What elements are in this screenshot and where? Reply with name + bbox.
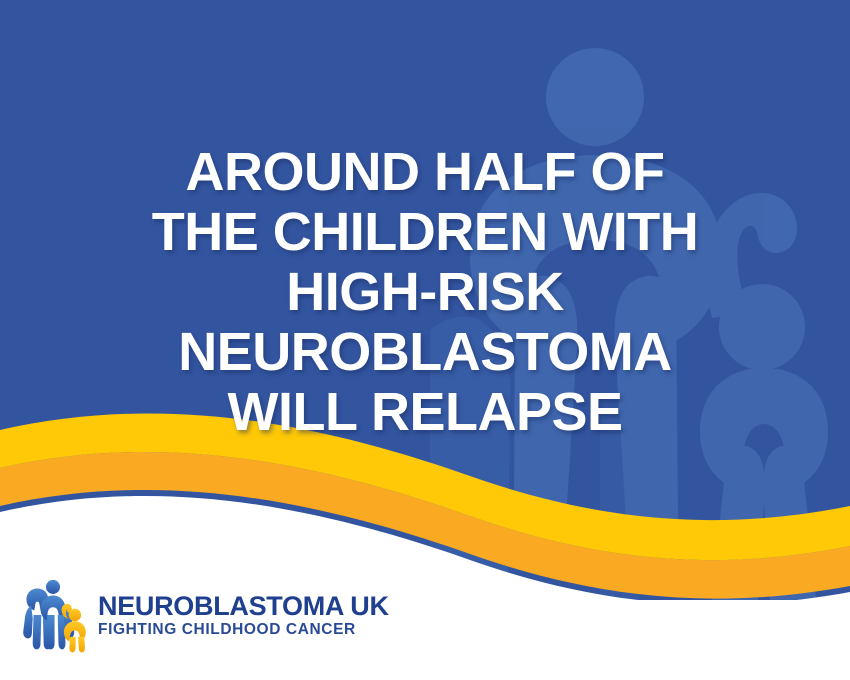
headline-line-1: AROUND HALF OF <box>0 142 850 202</box>
logo-organisation-name: NEUROBLASTOMA UK <box>98 592 389 621</box>
headline-line-2: THE CHILDREN WITH <box>0 202 850 262</box>
headline-line-4: NEUROBLASTOMA <box>0 322 850 382</box>
headline-line-3: HIGH-RISK <box>0 262 850 322</box>
poster-canvas: AROUND HALF OF THE CHILDREN WITH HIGH-RI… <box>0 0 850 680</box>
headline-line-5: WILL RELAPSE <box>0 382 850 442</box>
logo-wordmark: NEUROBLASTOMA UK FIGHTING CHILDHOOD CANC… <box>98 592 389 639</box>
charity-logo[interactable]: NEUROBLASTOMA UK FIGHTING CHILDHOOD CANC… <box>14 576 389 654</box>
headline-block: AROUND HALF OF THE CHILDREN WITH HIGH-RI… <box>0 142 850 442</box>
logo-tagline: FIGHTING CHILDHOOD CANCER <box>98 621 389 639</box>
family-figures-logo-icon <box>14 576 92 654</box>
